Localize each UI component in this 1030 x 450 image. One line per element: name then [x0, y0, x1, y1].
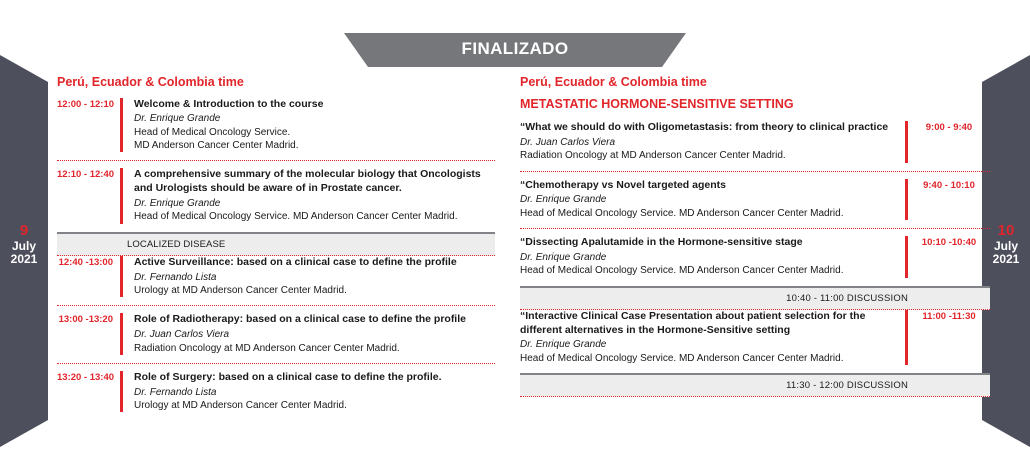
discussion-label: 10:40 - 11:00 DISCUSSION — [786, 293, 908, 304]
session-speaker: Dr. Juan Carlos Viera — [134, 328, 495, 342]
session-row: “What we should do with Oligometastasis:… — [520, 121, 990, 171]
session-time: 9:40 - 10:10 — [908, 179, 990, 221]
session-speaker: Dr. Juan Carlos Viera — [520, 136, 895, 150]
timezone-header-left: Perú, Ecuador & Colombia time — [57, 76, 495, 89]
session-body: “Chemotherapy vs Novel targeted agents D… — [520, 179, 905, 221]
session-row: 12:00 - 12:10 Welcome & Introduction to … — [57, 98, 495, 161]
session-affiliation: Head of Medical Oncology Service. MD And… — [520, 264, 895, 277]
session-speaker: Dr. Fernando Lista — [134, 386, 495, 400]
session-row: 12:40 -13:00 Active Surveillance: based … — [57, 256, 495, 306]
session-affiliation: Radiation Oncology at MD Anderson Cancer… — [134, 342, 495, 355]
session-speaker: Dr. Fernando Lista — [134, 271, 495, 285]
session-time: 11:00 -11:30 — [908, 310, 990, 365]
session-body: Welcome & Introduction to the course Dr.… — [123, 98, 495, 153]
session-row: “Dissecting Apalutamide in the Hormone-s… — [520, 228, 990, 286]
date-panel-left: 9 July 2021 — [0, 0, 58, 450]
session-speaker: Dr. Enrique Grande — [520, 338, 895, 352]
session-affiliation: Urology at MD Anderson Cancer Center Mad… — [134, 284, 495, 297]
session-title: A comprehensive summary of the molecular… — [134, 168, 495, 196]
session-affiliation: Head of Medical Oncology Service. — [134, 126, 495, 139]
session-speaker: Dr. Enrique Grande — [520, 193, 895, 207]
session-speaker: Dr. Enrique Grande — [520, 251, 895, 265]
timezone-header-right: Perú, Ecuador & Colombia time — [520, 76, 990, 89]
discussion-band-2: 11:30 - 12:00 DISCUSSION — [520, 373, 990, 397]
session-affiliation: Head of Medical Oncology Service. MD And… — [520, 207, 895, 220]
session-body: Role of Radiotherapy: based on a clinica… — [123, 313, 495, 355]
section-band-label: LOCALIZED DISEASE — [127, 239, 225, 250]
session-affiliation-2: MD Anderson Cancer Center Madrid. — [134, 139, 495, 152]
agenda-column-day-9: Perú, Ecuador & Colombia time 12:00 - 12… — [57, 76, 495, 420]
session-row: 12:10 - 12:40 A comprehensive summary of… — [57, 160, 495, 231]
session-time: 13:00 -13:20 — [57, 313, 120, 355]
date-left: 9 July 2021 — [0, 223, 48, 267]
date-left-month: July — [0, 240, 48, 253]
agenda-page: 9 July 2021 10 July 2021 FINALIZADO Perú… — [0, 0, 1030, 450]
session-title: “Dissecting Apalutamide in the Hormone-s… — [520, 236, 895, 250]
session-time: 12:00 - 12:10 — [57, 98, 120, 153]
session-body: “Interactive Clinical Case Presentation … — [520, 310, 905, 365]
session-title: “What we should do with Oligometastasis:… — [520, 121, 895, 135]
session-body: “What we should do with Oligometastasis:… — [520, 121, 905, 163]
date-left-year: 2021 — [0, 253, 48, 266]
session-time: 12:10 - 12:40 — [57, 168, 120, 223]
agenda-column-day-10: Perú, Ecuador & Colombia time METASTATIC… — [520, 76, 990, 397]
session-body: A comprehensive summary of the molecular… — [123, 168, 495, 223]
session-title: “Interactive Clinical Case Presentation … — [520, 310, 895, 338]
session-speaker: Dr. Enrique Grande — [134, 112, 495, 126]
date-left-day: 9 — [0, 223, 48, 240]
session-row: 13:20 - 13:40 Role of Surgery: based on … — [57, 363, 495, 421]
session-row: “Interactive Clinical Case Presentation … — [520, 310, 990, 373]
session-time: 10:10 -10:40 — [908, 236, 990, 278]
status-banner: FINALIZADO — [344, 33, 686, 67]
session-title: Role of Surgery: based on a clinical cas… — [134, 371, 495, 385]
session-body: Role of Surgery: based on a clinical cas… — [123, 371, 495, 413]
discussion-label: 11:30 - 12:00 DISCUSSION — [786, 380, 908, 391]
session-time: 9:00 - 9:40 — [908, 121, 990, 163]
session-body: “Dissecting Apalutamide in the Hormone-s… — [520, 236, 905, 278]
session-body: Active Surveillance: based on a clinical… — [123, 256, 495, 298]
session-affiliation: Head of Medical Oncology Service. MD And… — [520, 352, 895, 365]
session-affiliation: Head of Medical Oncology Service. MD And… — [134, 210, 495, 223]
session-speaker: Dr. Enrique Grande — [134, 197, 495, 211]
section-band-localized-disease: LOCALIZED DISEASE — [57, 232, 495, 256]
section-title-metastatic: METASTATIC HORMONE-SENSITIVE SETTING — [520, 98, 990, 111]
session-title: Active Surveillance: based on a clinical… — [134, 256, 495, 270]
session-affiliation: Urology at MD Anderson Cancer Center Mad… — [134, 399, 495, 412]
session-row: 13:00 -13:20 Role of Radiotherapy: based… — [57, 305, 495, 363]
session-affiliation: Radiation Oncology at MD Anderson Cancer… — [520, 149, 895, 162]
session-time: 12:40 -13:00 — [57, 256, 120, 298]
session-title: “Chemotherapy vs Novel targeted agents — [520, 179, 895, 193]
session-row: “Chemotherapy vs Novel targeted agents D… — [520, 171, 990, 229]
session-title: Role of Radiotherapy: based on a clinica… — [134, 313, 495, 327]
session-time: 13:20 - 13:40 — [57, 371, 120, 413]
session-title: Welcome & Introduction to the course — [134, 98, 495, 112]
discussion-band-1: 10:40 - 11:00 DISCUSSION — [520, 286, 990, 310]
